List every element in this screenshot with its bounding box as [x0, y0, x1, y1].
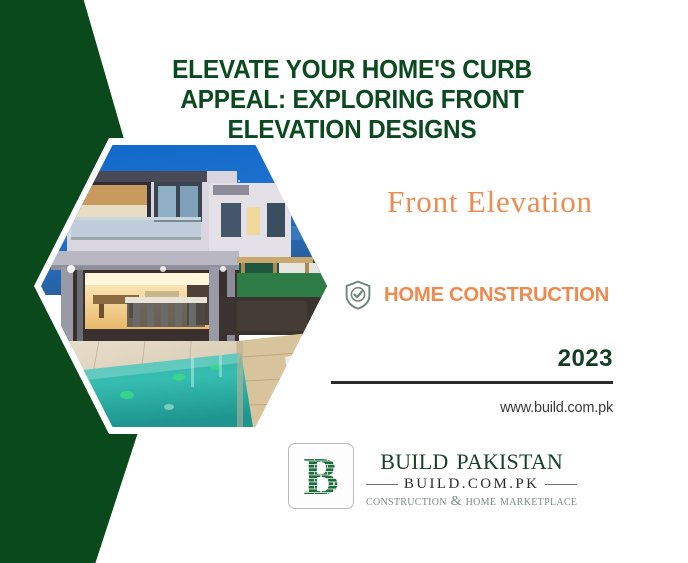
logo-tagline: Construction & Home Marketplace: [366, 494, 577, 510]
subject-title: Front Elevation: [340, 184, 640, 220]
website-url[interactable]: www.build.com.pk: [313, 400, 613, 416]
hero-image-hexagon: [34, 138, 334, 434]
divider-rule: [331, 381, 613, 384]
brand-logo[interactable]: B Build Pakistan BUILD.COM.PK Constructi…: [288, 442, 577, 510]
category-label: Home Construction: [384, 283, 609, 307]
logo-monogram-icon: B: [288, 443, 354, 509]
page-title: Elevate Your Home's Curb Appeal: Explori…: [146, 55, 559, 145]
logo-rule-right: [545, 484, 577, 485]
shield-check-icon: [341, 278, 375, 312]
category-row: Home Construction: [341, 278, 611, 312]
logo-domain: BUILD.COM.PK: [404, 476, 539, 492]
logo-rule-left: [366, 484, 398, 485]
logo-domain-row: BUILD.COM.PK: [366, 476, 577, 492]
year-label: 2023: [313, 345, 613, 373]
logo-brand-name: Build Pakistan: [380, 442, 563, 475]
svg-text:B: B: [303, 450, 338, 502]
poster-canvas: Elevate Your Home's Curb Appeal: Explori…: [0, 0, 688, 563]
logo-text-block: Build Pakistan BUILD.COM.PK Construction…: [366, 442, 577, 510]
hero-photo: [41, 145, 327, 427]
